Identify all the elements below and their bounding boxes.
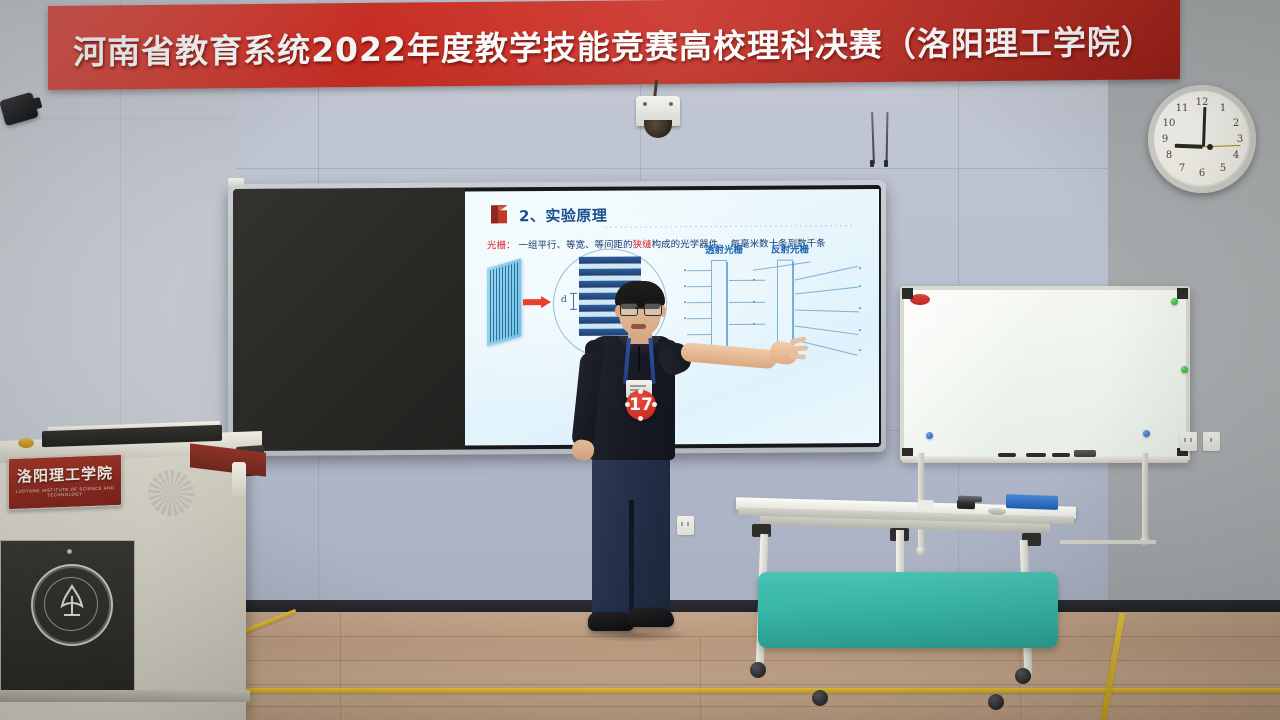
magnet-blue[interactable] [1143,430,1150,437]
clock-face: 12 1 2 3 4 5 6 7 8 9 10 11 [1156,93,1248,185]
marker-pen[interactable] [1026,453,1046,457]
lectern-speaker-vent [148,470,194,516]
lectern-nameplate: 洛阳理工学院 LUOYANG INSTITUTE OF SCIENCE AND … [8,454,122,510]
zoom-arrow-icon [523,295,551,307]
status-led-icon [67,549,72,554]
event-banner: 河南省教育系统2022年度教学技能竞赛高校理科决赛（洛阳理工学院） [48,0,1180,90]
wall-switch[interactable] [1203,432,1220,451]
presenter-placket [638,346,640,372]
presenter-glasses-right-lens [644,303,662,316]
clock-numeral: 4 [1229,150,1243,161]
presenter-shoe-right [628,608,674,627]
clock-numeral: 7 [1175,163,1189,174]
reflection-grating-label: 反射光栅 [771,241,809,255]
marker-pen[interactable] [1052,453,1070,457]
magnet-green[interactable] [1181,366,1188,373]
clock-numeral: 3 [1233,134,1247,145]
table-caster [750,662,766,678]
lectern-base [0,690,250,702]
lectern-handle[interactable] [232,462,246,496]
presenter-glasses-left-lens [620,303,638,316]
blue-case[interactable] [1006,494,1058,510]
clock-minute-hand [1202,107,1206,147]
wall-seam [0,118,236,119]
slide-title: 2、实验原理 [519,205,607,227]
table-leg [896,530,904,574]
blackboard-surface [233,188,465,451]
lectern-microphone-icon [18,438,34,448]
clock-hour-hand [1175,144,1203,148]
clock-center-pin [1207,144,1213,150]
whiteboard-base-rail [1060,540,1156,544]
whiteboard-leg [1142,453,1148,539]
clock-numeral: 12 [1195,97,1209,108]
clock-numeral: 6 [1195,168,1209,179]
clock-numeral: 10 [1162,118,1176,129]
slide-body-text: 光栅： 一组平行、等宽、等间距的狭缝构成的光学器件。 每毫米数十条到数千条 [487,235,867,251]
clock-numeral: 8 [1162,150,1176,161]
video-frame: 河南省教育系统2022年度教学技能竞赛高校理科决赛（洛阳理工学院） 12 1 2… [0,0,1280,720]
presenter-leg-seam [629,500,634,622]
table-caster [988,694,1004,710]
d-spacing-brace [573,293,574,310]
display-screen[interactable]: 2、实验原理 光栅： 一组平行、等宽、等间距的狭缝构成的光学器件。 每毫米数十条… [233,185,881,451]
wall-clock: 12 1 2 3 4 5 6 7 8 9 10 11 [1148,85,1256,193]
university-emblem-icon [31,564,113,646]
small-device[interactable] [958,496,982,503]
wall-outlet[interactable] [1180,432,1197,451]
lectern-nameplate-cn: 洛阳理工学院 [9,462,121,487]
contestant-number-badge: 17 [626,390,656,420]
lectern-nameplate-en: LUOYANG INSTITUTE OF SCIENCE AND TECHNOL… [9,485,121,499]
clock-numeral: 5 [1216,163,1230,174]
magnet-green[interactable] [1171,298,1178,305]
table-caster [812,690,828,706]
clock-numeral: 9 [1158,134,1172,145]
wall-outlet-back[interactable] [677,516,694,535]
transmission-grating-figure [711,260,727,350]
slide-body-highlight: 狭缝 [633,239,652,250]
clock-numeral: 2 [1229,118,1243,129]
magnet-blue[interactable] [926,432,933,439]
marker-pen[interactable] [998,453,1016,457]
slide-bullet-icon [487,201,513,227]
presenter-glasses-bridge [635,307,645,309]
mobile-whiteboard[interactable] [900,286,1190,461]
presenter-mouth [631,324,646,329]
slide-body-lead: 光栅： [487,240,516,251]
grating-plate-figure [487,258,521,346]
d-label: d [561,295,567,305]
table-modesty-panel [758,572,1058,648]
display-sensor-bar [228,178,244,187]
clock-numeral: 1 [1216,103,1230,114]
transmission-grating-label: 透射光栅 [705,242,743,256]
ceiling-dome-camera-icon [636,96,680,126]
lectern-emblem-panel [0,540,135,694]
reflection-grating-figure [777,260,793,350]
whiteboard-caster [916,546,926,556]
table-caster [1015,668,1031,684]
whiteboard-brand-text [912,304,913,310]
paper-slip [918,500,934,509]
whiteboard-eraser[interactable] [1074,450,1096,457]
interactive-flat-panel[interactable]: 2、实验原理 光栅： 一组平行、等宽、等间距的狭缝构成的光学器件。 每毫米数十条… [228,180,886,456]
clock-numeral: 11 [1175,103,1189,114]
